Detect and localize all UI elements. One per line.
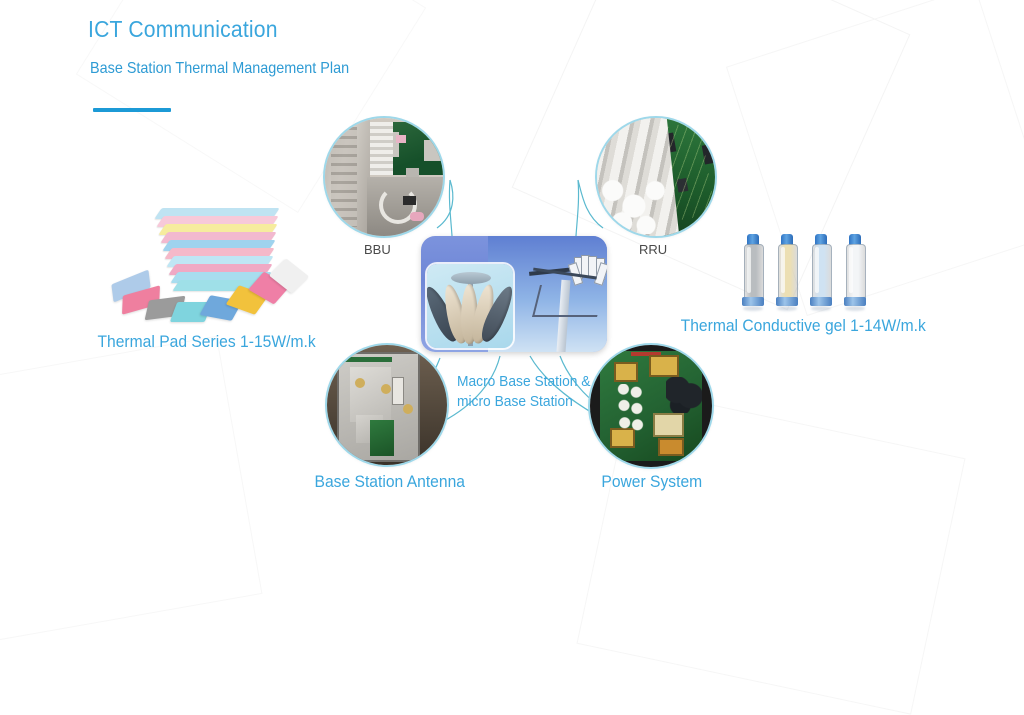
node-label-base-station-antenna: Base Station Antenna: [315, 472, 465, 492]
syringe-shadow: [811, 306, 831, 311]
syringe-flange: [810, 297, 832, 306]
node-bbu[interactable]: [325, 118, 443, 236]
syringe-shadow: [777, 306, 797, 311]
center-card-macro-base-station[interactable]: [421, 236, 607, 352]
bbu-rack-photo: [325, 118, 443, 236]
thermal-gel-syringe: [742, 234, 764, 310]
syringe-shadow: [743, 306, 763, 311]
node-label-power-system: Power System: [601, 472, 702, 492]
antenna-array-photo: [427, 264, 513, 348]
syringe-highlight: [781, 247, 785, 293]
node-power-system[interactable]: [590, 345, 712, 467]
thermal-gel-syringe: [810, 234, 832, 310]
thermal-pad-stack-photo: [112, 198, 312, 330]
center-card-label: Macro Base Station &micro Base Station: [457, 372, 595, 412]
node-label-rru: RRU: [639, 242, 667, 257]
node-rru[interactable]: [597, 118, 715, 236]
syringe-highlight: [849, 247, 853, 293]
base-station-antenna-photo: [327, 345, 447, 465]
syringe-highlight: [747, 247, 751, 293]
syringe-flange: [844, 297, 866, 306]
node-label-bbu: BBU: [364, 242, 391, 257]
rru-heatsink-pcb-photo: [597, 118, 715, 236]
product-label-thermal-pad: Thermal Pad Series 1-15W/m.k: [97, 332, 315, 352]
node-base-station-antenna[interactable]: [327, 345, 447, 465]
power-supply-board-photo: [590, 345, 712, 467]
syringe-shadow: [845, 306, 865, 311]
syringe-flange: [742, 297, 764, 306]
slide-canvas: ICT Communication Base Station Thermal M…: [0, 0, 1024, 538]
syringe-flange: [776, 297, 798, 306]
thermal-gel-syringes-photo: [742, 228, 882, 312]
thermal-gel-syringe: [776, 234, 798, 310]
thermal-gel-syringe: [844, 234, 866, 310]
syringe-highlight: [815, 247, 819, 293]
product-label-thermal-gel: Thermal Conductive gel 1-14W/m.k: [681, 316, 926, 336]
